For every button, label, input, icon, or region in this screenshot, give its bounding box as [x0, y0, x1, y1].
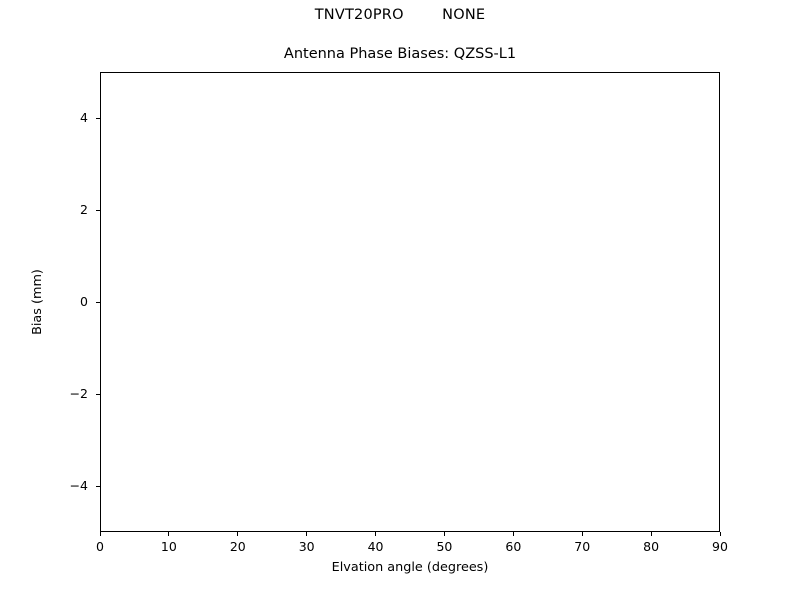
- x-tick-label: 40: [356, 539, 396, 554]
- x-tick-mark: [513, 532, 514, 536]
- y-tick-label: 4: [48, 110, 88, 125]
- x-tick-label: 70: [562, 539, 602, 554]
- x-axis-label: Elvation angle (degrees): [100, 560, 720, 575]
- y-tick-label: 2: [48, 202, 88, 217]
- figure-suptitle: TNVT20PRO NONE: [0, 7, 800, 23]
- axes-frame: [100, 72, 720, 532]
- x-tick-mark: [375, 532, 376, 536]
- chart-title: Antenna Phase Biases: QZSS-L1: [0, 46, 800, 62]
- y-tick-mark: [96, 394, 100, 395]
- x-tick-label: 0: [80, 539, 120, 554]
- y-tick-label: −2: [48, 386, 88, 401]
- x-tick-label: 90: [700, 539, 740, 554]
- y-tick-label: 0: [48, 294, 88, 309]
- x-tick-mark: [168, 532, 169, 536]
- figure-canvas: TNVT20PRO NONE Antenna Phase Biases: QZS…: [0, 0, 800, 600]
- x-tick-mark: [720, 532, 721, 536]
- x-tick-mark: [651, 532, 652, 536]
- x-tick-mark: [582, 532, 583, 536]
- x-tick-mark: [100, 532, 101, 536]
- x-tick-mark: [237, 532, 238, 536]
- y-tick-mark: [96, 486, 100, 487]
- x-tick-label: 80: [631, 539, 671, 554]
- y-tick-mark: [96, 210, 100, 211]
- y-tick-label: −4: [48, 478, 88, 493]
- x-tick-mark: [444, 532, 445, 536]
- x-tick-label: 50: [424, 539, 464, 554]
- x-tick-label: 60: [493, 539, 533, 554]
- x-tick-label: 20: [218, 539, 258, 554]
- y-tick-mark: [96, 302, 100, 303]
- x-tick-label: 10: [149, 539, 189, 554]
- y-axis-label: Bias (mm): [30, 72, 45, 532]
- y-tick-mark: [96, 118, 100, 119]
- x-tick-label: 30: [287, 539, 327, 554]
- x-tick-mark: [306, 532, 307, 536]
